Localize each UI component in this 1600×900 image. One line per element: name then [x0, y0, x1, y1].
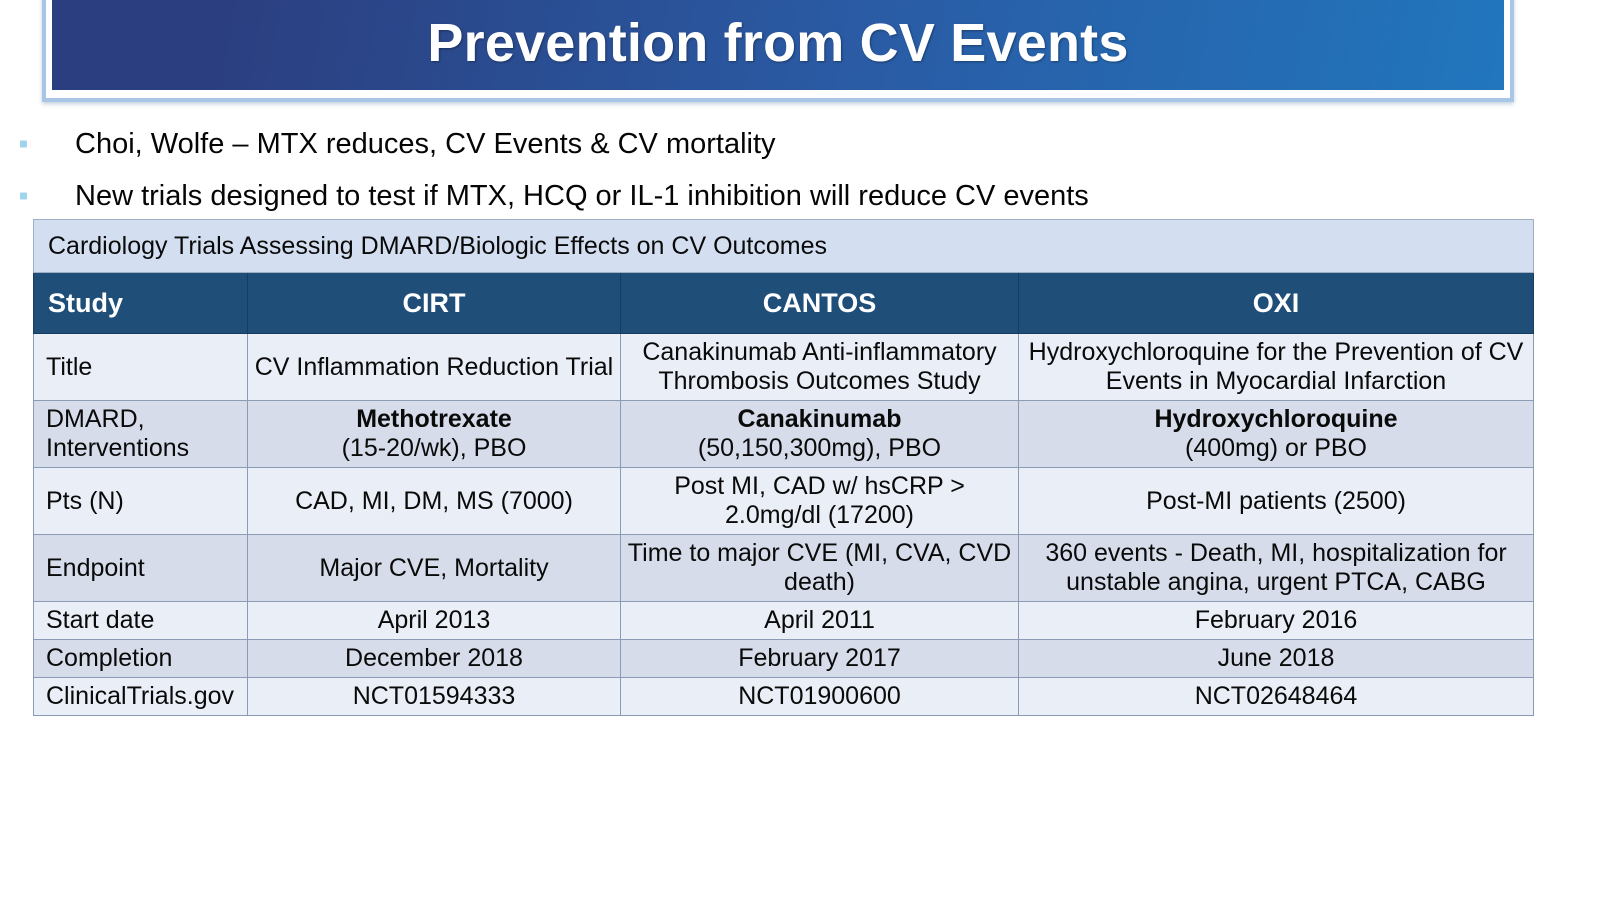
cell-cantos: Post MI, CAD w/ hsCRP > 2.0mg/dl (17200) — [621, 468, 1019, 535]
title-banner: Prevention from CV Events — [42, 0, 1514, 102]
table-row: ClinicalTrials.gov NCT01594333 NCT019006… — [34, 678, 1534, 716]
cell-oxi: NCT02648464 — [1019, 678, 1534, 716]
cell-oxi: Post-MI patients (2500) — [1019, 468, 1534, 535]
row-label: Completion — [34, 640, 248, 678]
cell-cirt: NCT01594333 — [248, 678, 621, 716]
cell-cirt: April 2013 — [248, 602, 621, 640]
cell-cantos: Canakinumab (50,150,300mg), PBO — [621, 401, 1019, 468]
row-label: Title — [34, 334, 248, 401]
cell-cantos: Time to major CVE (MI, CVA, CVD death) — [621, 535, 1019, 602]
cell-cantos: February 2017 — [621, 640, 1019, 678]
cell-oxi: Hydroxychloroquine (400mg) or PBO — [1019, 401, 1534, 468]
drug-dose: (15-20/wk), PBO — [254, 434, 614, 463]
column-header-cantos: CANTOS — [621, 273, 1019, 334]
bullet-marker-icon — [20, 193, 27, 200]
table-caption-row: Cardiology Trials Assessing DMARD/Biolog… — [34, 220, 1534, 273]
table-row: Title CV Inflammation Reduction Trial Ca… — [34, 334, 1534, 401]
cell-cirt: CV Inflammation Reduction Trial — [248, 334, 621, 401]
drug-dose: (400mg) or PBO — [1025, 434, 1527, 463]
trials-table-container: Cardiology Trials Assessing DMARD/Biolog… — [33, 219, 1533, 716]
title-banner-fill: Prevention from CV Events — [52, 0, 1504, 90]
table-row: Completion December 2018 February 2017 J… — [34, 640, 1534, 678]
trials-table: Cardiology Trials Assessing DMARD/Biolog… — [33, 219, 1534, 716]
bullet-text: Choi, Wolfe – MTX reduces, CV Events & C… — [75, 128, 776, 161]
cell-cirt: Major CVE, Mortality — [248, 535, 621, 602]
drug-name: Canakinumab — [627, 405, 1012, 434]
column-header-study: Study — [34, 273, 248, 334]
cell-cirt: December 2018 — [248, 640, 621, 678]
bullet-item: Choi, Wolfe – MTX reduces, CV Events & C… — [0, 118, 1600, 170]
bullet-text: New trials designed to test if MTX, HCQ … — [75, 180, 1089, 213]
row-label: Pts (N) — [34, 468, 248, 535]
cell-oxi: February 2016 — [1019, 602, 1534, 640]
cell-cirt: CAD, MI, DM, MS (7000) — [248, 468, 621, 535]
cell-oxi: 360 events - Death, MI, hospitalization … — [1019, 535, 1534, 602]
bullet-item: New trials designed to test if MTX, HCQ … — [0, 170, 1600, 222]
page-title: Prevention from CV Events — [52, 16, 1504, 70]
bullet-list: Choi, Wolfe – MTX reduces, CV Events & C… — [0, 118, 1600, 222]
table-row: Start date April 2013 April 2011 Februar… — [34, 602, 1534, 640]
cell-cirt: Methotrexate (15-20/wk), PBO — [248, 401, 621, 468]
cell-cantos: NCT01900600 — [621, 678, 1019, 716]
table-row: Endpoint Major CVE, Mortality Time to ma… — [34, 535, 1534, 602]
table-row: DMARD, Interventions Methotrexate (15-20… — [34, 401, 1534, 468]
cell-oxi: June 2018 — [1019, 640, 1534, 678]
table-header-row: Study CIRT CANTOS OXI — [34, 273, 1534, 334]
drug-name: Methotrexate — [254, 405, 614, 434]
table-row: Pts (N) CAD, MI, DM, MS (7000) Post MI, … — [34, 468, 1534, 535]
row-label: Endpoint — [34, 535, 248, 602]
cell-cantos: April 2011 — [621, 602, 1019, 640]
cell-cantos: Canakinumab Anti-inflammatory Thrombosis… — [621, 334, 1019, 401]
row-label: DMARD, Interventions — [34, 401, 248, 468]
cell-oxi: Hydroxychloroquine for the Prevention of… — [1019, 334, 1534, 401]
bullet-marker-icon — [20, 141, 27, 148]
column-header-cirt: CIRT — [248, 273, 621, 334]
row-label: ClinicalTrials.gov — [34, 678, 248, 716]
row-label: Start date — [34, 602, 248, 640]
drug-name: Hydroxychloroquine — [1025, 405, 1527, 434]
column-header-oxi: OXI — [1019, 273, 1534, 334]
table-caption: Cardiology Trials Assessing DMARD/Biolog… — [34, 220, 1534, 273]
drug-dose: (50,150,300mg), PBO — [627, 434, 1012, 463]
